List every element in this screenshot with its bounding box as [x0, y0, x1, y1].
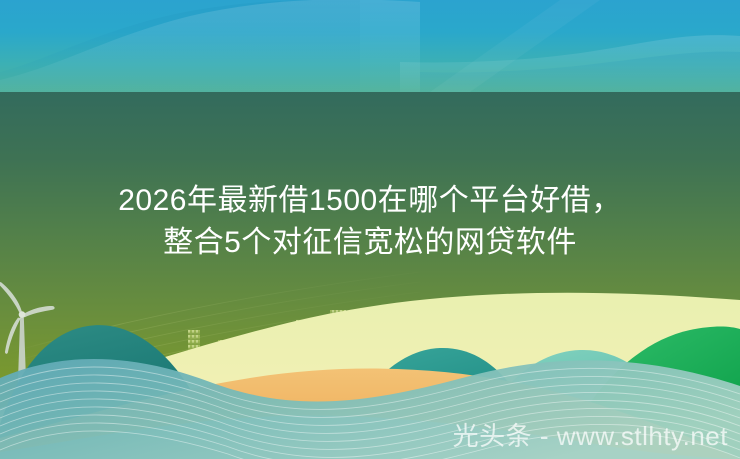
ground-background [0, 92, 740, 459]
promo-banner: 2026年最新借1500在哪个平台好借， 整合5个对征信宽松的网贷软件 光头条 … [0, 0, 740, 459]
site-watermark: 光头条 - www.stlhty.net [453, 421, 728, 451]
sky-background [0, 0, 740, 92]
